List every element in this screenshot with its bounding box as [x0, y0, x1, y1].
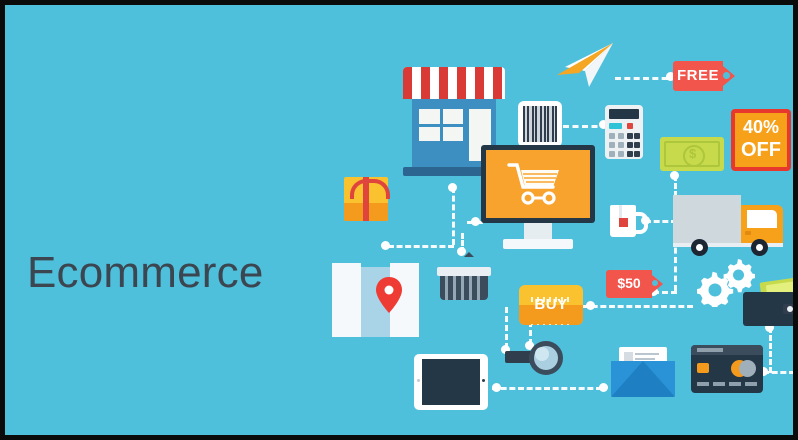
- awning: [403, 67, 505, 99]
- card-number-block: [697, 382, 709, 386]
- banknote-symbol: $: [689, 146, 696, 161]
- truck-handle: [745, 231, 751, 235]
- connector-line: [492, 387, 602, 390]
- connector-node: [492, 383, 501, 392]
- magnifier-icon: [505, 341, 563, 381]
- barcode-bars: [523, 106, 557, 142]
- paper-plane-icon: [555, 41, 617, 89]
- tag-hole: [652, 280, 658, 286]
- map-fold: [332, 263, 361, 337]
- truck-window: [747, 210, 777, 228]
- letter-photo: [624, 352, 633, 361]
- card-chip: [697, 363, 709, 373]
- banner-stage: Ecommerce Software: [5, 5, 793, 435]
- tag-hole: [723, 72, 730, 79]
- calculator-key: [627, 151, 633, 157]
- truck-wheel: [751, 239, 768, 256]
- wallet-button: [787, 306, 793, 312]
- shopping-basket-icon: [437, 252, 491, 300]
- card-stripe: [697, 348, 723, 352]
- truck-wheel: [691, 239, 708, 256]
- buy-button-icon[interactable]: BUY: [519, 285, 583, 325]
- calculator-key: [609, 123, 622, 129]
- monitor-base: [503, 239, 573, 249]
- connector-node: [471, 217, 480, 226]
- card-logo-circle: [739, 360, 756, 377]
- headline-line-2: Software: [27, 423, 264, 440]
- calculator-key: [634, 133, 640, 139]
- gift-box-icon: [344, 177, 388, 221]
- envelope-flap-right: [643, 361, 675, 397]
- calculator-key: [618, 151, 624, 157]
- mug-logo: [619, 218, 628, 227]
- connector-node: [599, 383, 608, 392]
- card-number-block: [745, 382, 757, 386]
- card-number-block: [729, 382, 741, 386]
- truck-trailer: [673, 195, 741, 243]
- basket-body: [440, 276, 488, 300]
- delivery-truck-icon: [673, 195, 783, 257]
- basket-rim: [437, 267, 491, 276]
- shop-window: [419, 109, 463, 141]
- card-number-block: [713, 382, 725, 386]
- connector-line: [388, 245, 454, 248]
- price-tag-icon: $50: [606, 270, 664, 298]
- headline-line-1: Ecommerce: [27, 243, 264, 303]
- calculator-key: [618, 142, 624, 148]
- discount-percent-label: 40%: [735, 117, 787, 137]
- discount-word-label: OFF: [735, 139, 787, 161]
- calculator-key: [634, 151, 640, 157]
- connector-node: [586, 301, 595, 310]
- connector-line: [583, 305, 693, 308]
- calculator-key: [609, 151, 615, 157]
- buy-rays-top: [531, 289, 571, 294]
- price-tag-label: $50: [606, 275, 652, 291]
- credit-card-icon: [691, 345, 763, 393]
- banknote-icon: $: [660, 137, 724, 171]
- connector-node: [381, 241, 390, 250]
- free-tag-label: FREE: [673, 67, 723, 84]
- free-tag-icon: FREE: [673, 61, 735, 91]
- calculator-key: [634, 142, 640, 148]
- gift-bow: [350, 179, 390, 199]
- tea-tag-string: [619, 205, 622, 218]
- tablet-home-button: [482, 379, 485, 382]
- calculator-key: [627, 142, 633, 148]
- calculator-display: [609, 109, 639, 119]
- calculator-key: [627, 133, 633, 139]
- calculator-icon: [605, 105, 643, 159]
- discount-badge-icon: 40% OFF: [731, 109, 791, 171]
- connector-line: [769, 327, 772, 373]
- tablet-camera: [417, 379, 420, 382]
- coffee-mug-icon: [610, 205, 644, 239]
- magnifier-glare: [535, 347, 549, 361]
- desktop-monitor-icon: [481, 145, 595, 257]
- tablet-icon: [414, 354, 488, 410]
- envelope-flap-left: [611, 361, 643, 397]
- wallet-icon: [743, 280, 798, 326]
- barcode-icon: [518, 101, 562, 147]
- ecommerce-software-banner: Ecommerce Software: [0, 0, 798, 440]
- map-pin-icon: [332, 263, 418, 337]
- shopping-cart-icon: [507, 162, 563, 206]
- location-pin: [376, 277, 402, 313]
- monitor-neck: [524, 223, 552, 239]
- connector-line: [452, 187, 455, 245]
- calculator-key: [627, 123, 633, 129]
- mug-handle: [633, 212, 648, 234]
- page-title: Ecommerce Software: [27, 123, 264, 440]
- envelope-icon: [611, 347, 675, 397]
- buy-button-label: BUY: [519, 296, 583, 313]
- calculator-key: [609, 133, 615, 139]
- tablet-screen: [422, 359, 480, 405]
- calculator-key: [618, 133, 624, 139]
- connector-node: [670, 171, 679, 180]
- buy-rays-bottom: [531, 316, 571, 321]
- calculator-key: [609, 142, 615, 148]
